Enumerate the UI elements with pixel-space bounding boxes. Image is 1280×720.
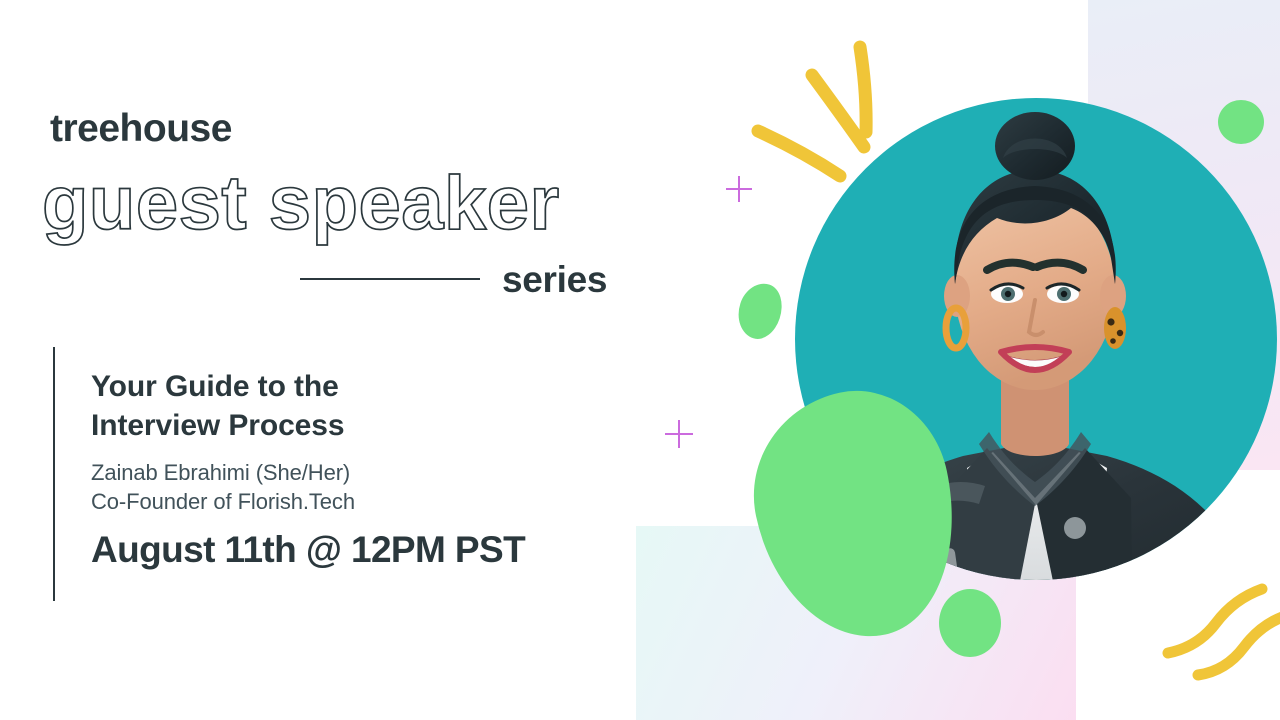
series-row: series (300, 256, 625, 302)
green-blob-small-bottom-shape (939, 589, 1001, 657)
headline-outline-text: guest speaker (42, 166, 560, 242)
event-title-line-1: Your Guide to the (91, 367, 631, 406)
event-info-block: Your Guide to the Interview Process Zain… (91, 367, 631, 569)
info-vertical-rule (53, 347, 55, 601)
event-title-line-2: Interview Process (91, 406, 631, 445)
brand-wordmark: treehouse (50, 109, 232, 148)
plus-mark-lower-icon (665, 420, 693, 448)
event-title: Your Guide to the Interview Process (91, 367, 631, 446)
speaker-info: Zainab Ebrahimi (She/Her) Co-Founder of … (91, 458, 631, 517)
event-datetime: August 11th @ 12PM PST (91, 531, 631, 570)
speaker-name: Zainab Ebrahimi (She/Her) (91, 458, 631, 487)
plus-mark-upper-icon (726, 176, 752, 202)
speaker-role: Co-Founder of Florish.Tech (91, 487, 631, 516)
guest-speaker-promo-slide: treehouse guest speaker series Your Guid… (0, 0, 1280, 720)
series-label: series (502, 261, 607, 298)
series-divider-rule (300, 278, 480, 280)
